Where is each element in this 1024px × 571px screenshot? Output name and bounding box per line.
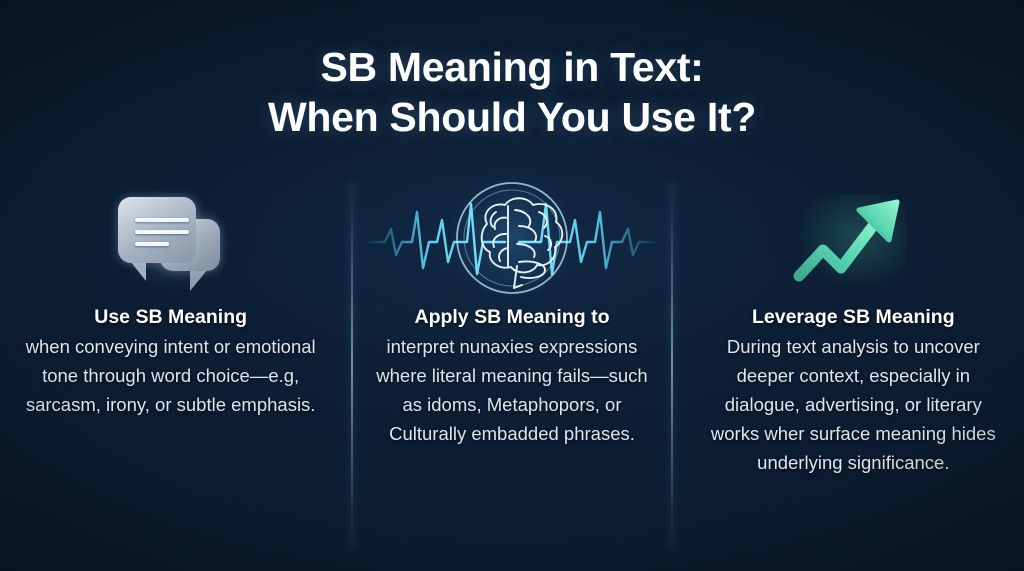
column-2-text: Apply SB Meaning to interpret nunaxies e… xyxy=(365,303,659,448)
chat-bubble-text-line-1 xyxy=(135,218,189,222)
growth-arrow-line xyxy=(799,218,879,276)
column-3-heading: Leverage SB Meaning xyxy=(707,303,1001,332)
column-use-sb-meaning: Use SB Meaning when conveying intent or … xyxy=(0,178,341,548)
chat-bubbles-icon xyxy=(112,191,230,291)
chat-bubble-back-tail xyxy=(190,269,208,291)
column-3-body: During text analysis to uncover deeper c… xyxy=(707,332,1001,477)
chat-bubble-front xyxy=(118,197,196,263)
column-leverage-sb-meaning: Leverage SB Meaning During text analysis… xyxy=(683,178,1024,548)
column-1-heading: Use SB Meaning xyxy=(24,303,318,332)
chat-bubble-text-line-2 xyxy=(135,230,189,234)
chat-bubble-front-tail xyxy=(130,261,146,281)
column-2-body: interpret nunaxies expressions where lit… xyxy=(365,332,659,448)
growth-arrow-icon xyxy=(793,188,913,293)
brain-waveform-svg xyxy=(367,182,657,300)
growth-arrow-svg xyxy=(793,188,913,293)
column-2-heading: Apply SB Meaning to xyxy=(365,303,659,332)
column-apply-sb-meaning: Apply SB Meaning to interpret nunaxies e… xyxy=(341,178,682,548)
column-3-icon-slot xyxy=(683,178,1024,303)
infographic-poster: SB Meaning in Text: When Should You Use … xyxy=(0,0,1024,571)
column-2-icon-slot xyxy=(341,178,682,303)
brain-waveform-icon xyxy=(367,182,657,300)
column-1-text: Use SB Meaning when conveying intent or … xyxy=(24,303,318,419)
title-line-1: SB Meaning in Text: xyxy=(0,42,1024,92)
chat-bubble-text-line-3 xyxy=(135,242,169,246)
waveform-left xyxy=(367,204,505,274)
column-1-body: when conveying intent or emotional tone … xyxy=(24,332,318,419)
title-line-2: When Should You Use It? xyxy=(0,92,1024,142)
column-1-icon-slot xyxy=(0,178,341,303)
page-title: SB Meaning in Text: When Should You Use … xyxy=(0,42,1024,142)
column-3-text: Leverage SB Meaning During text analysis… xyxy=(707,303,1001,477)
columns-container: Use SB Meaning when conveying intent or … xyxy=(0,178,1024,548)
